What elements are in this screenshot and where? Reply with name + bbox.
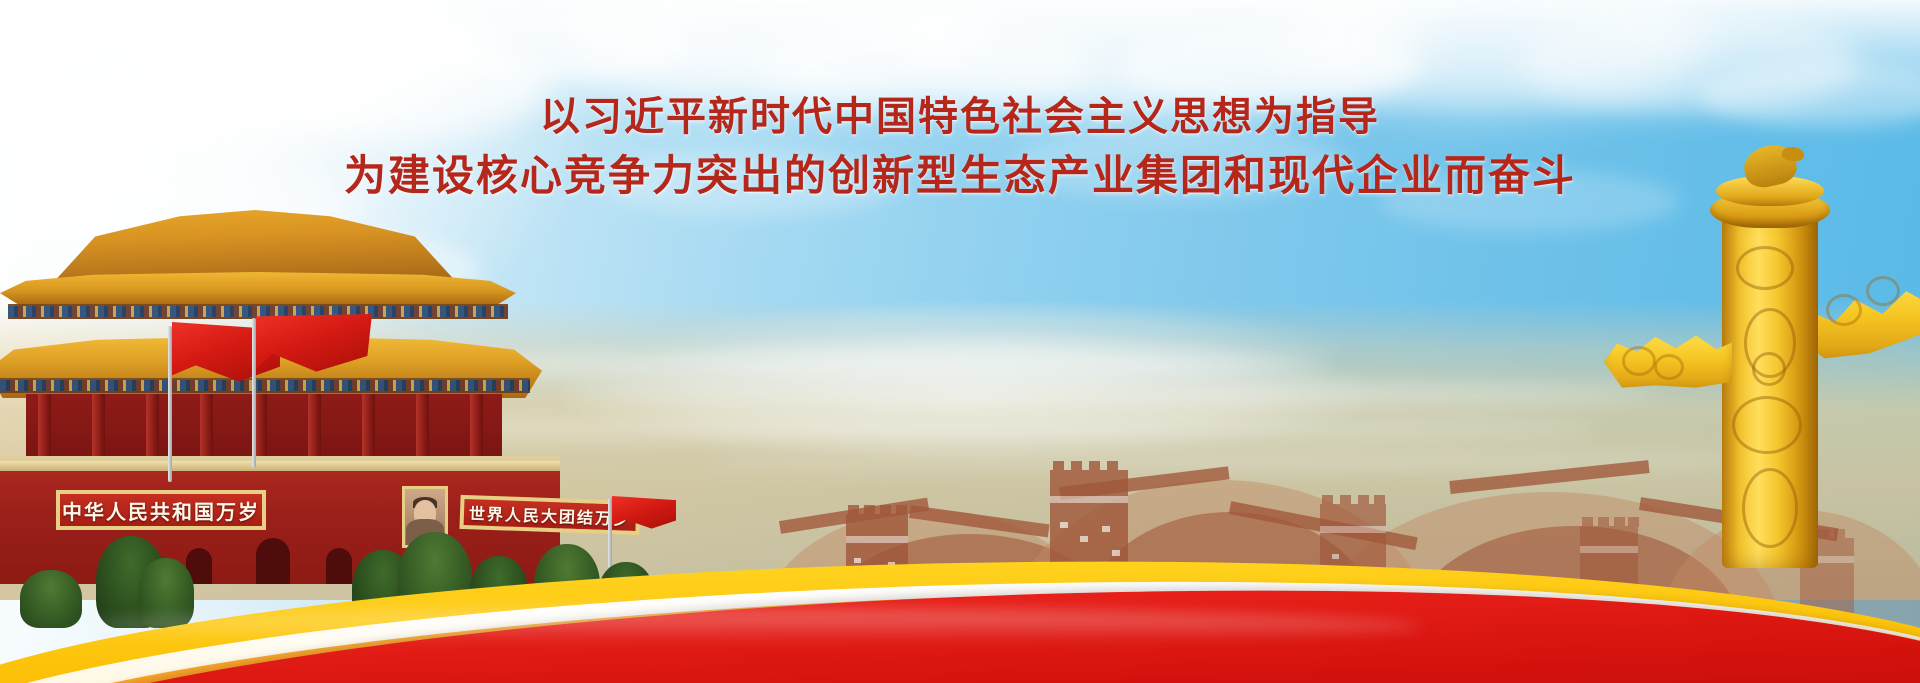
banner-canvas: 中华人民共和国万岁 世界人民大团结万岁 [0, 0, 1920, 683]
huabiao-shaft [1722, 212, 1818, 568]
slogan-left: 中华人民共和国万岁 [56, 490, 266, 530]
upper-roof-eave [0, 272, 516, 306]
gate-wall-coping [0, 461, 560, 471]
huabiao-column [1662, 148, 1892, 568]
bottom-ribbon [0, 533, 1920, 683]
colonnade [26, 394, 502, 460]
lower-frieze [0, 378, 530, 393]
ribbon-gloss [77, 609, 1421, 643]
